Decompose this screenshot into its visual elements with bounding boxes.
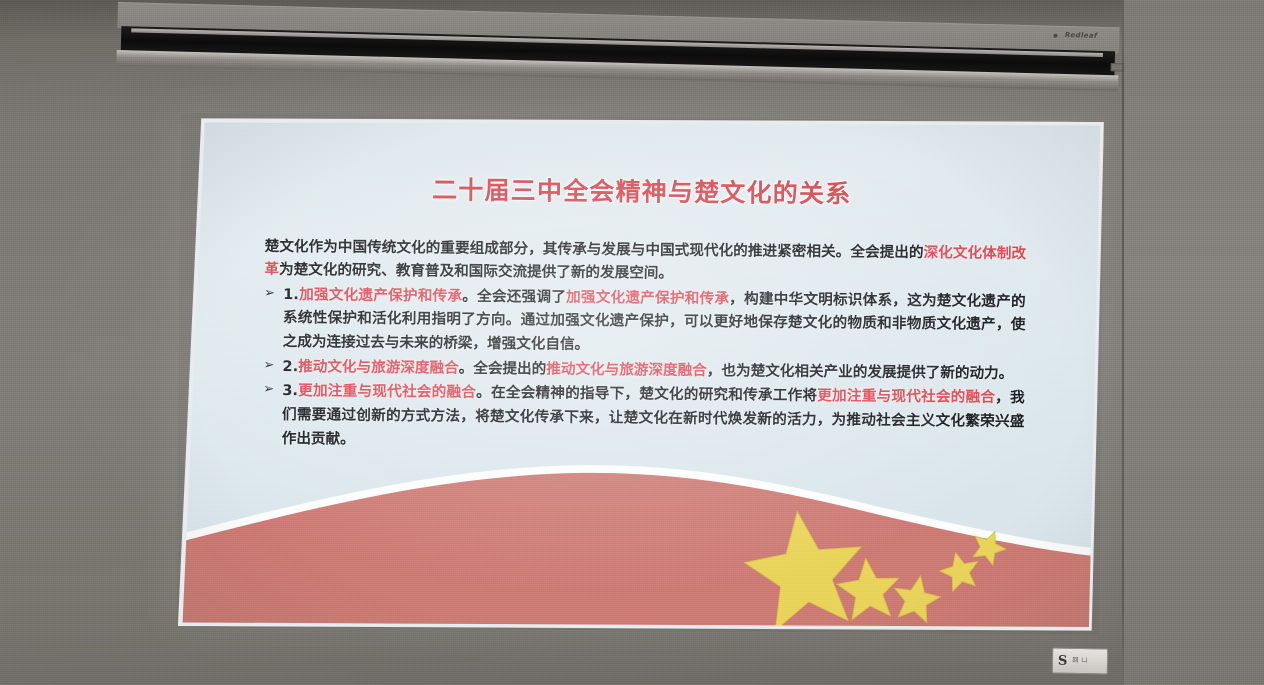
body-text-run: 楚文化作为中国传统文化的重要组成部分，其传承与发展与中国式现代化的推进紧密相关。…	[265, 237, 924, 260]
slide-title: 二十届三中全会精神与楚文化的关系	[180, 168, 1103, 213]
brand-dot-icon	[1053, 34, 1057, 38]
highlighted-phrase: 加强文化遗产保护和传承	[566, 289, 729, 308]
highlighted-phrase: 推动文化与旅游深度融合	[546, 360, 707, 379]
body-text-run: 。全会提出的	[459, 359, 547, 377]
plate-glyph-icon: S	[1058, 653, 1068, 668]
intro-paragraph: 楚文化作为中国传统文化的重要组成部分，其传承与发展与中国式现代化的推进紧密相关。…	[264, 234, 1026, 289]
highlighted-phrase: 更加注重与现代社会的融合	[817, 388, 995, 407]
bullet-heading: 加强文化遗产保护和传承	[299, 286, 463, 305]
casing-brand-label: Redleaf	[1065, 31, 1098, 40]
bullet-list: ➢1.加强文化遗产保护和传承。全会还强调了加强文化遗产保护和传承，构建中华文明标…	[263, 283, 1026, 458]
bullet-item: ➢3.更加注重与现代社会的融合。在全会精神的指导下，楚文化的研究和传承工作将更加…	[263, 379, 1025, 457]
bullet-number: 1.	[283, 286, 299, 303]
wall-mounted-plate[interactable]: S 回 凵	[1052, 648, 1108, 675]
bullet-arrow-icon: ➢	[263, 379, 274, 400]
slide-canvas: 二十届三中全会精神与楚文化的关系 楚文化作为中国传统文化的重要组成部分，其传承与…	[176, 113, 1104, 635]
slide-body: 楚文化作为中国传统文化的重要组成部分，其传承与发展与中国式现代化的推进紧密相关。…	[263, 234, 1027, 457]
classroom-wall: Redleaf 二十届三中全会精神与楚文化的关系	[0, 0, 1264, 685]
body-text-run: 。在全会精神的指导下，楚文化的研究和传承工作将	[476, 384, 817, 404]
body-text-run: ，也为楚文化相关产业的发展提供了新的动力。	[707, 362, 1014, 382]
projected-slide: 二十届三中全会精神与楚文化的关系 楚文化作为中国传统文化的重要组成部分，其传承与…	[176, 113, 1104, 635]
bullet-item: ➢1.加强文化遗产保护和传承。全会还强调了加强文化遗产保护和传承，构建中华文明标…	[264, 283, 1026, 361]
bullet-arrow-icon: ➢	[263, 355, 274, 376]
bullet-heading: 推动文化与旅游深度融合	[298, 358, 459, 377]
slide-text-content: 二十届三中全会精神与楚文化的关系 楚文化作为中国传统文化的重要组成部分，其传承与…	[176, 113, 1104, 635]
body-text-run: 为楚文化的研究、教育普及和国际交流提供了新的发展空间。	[279, 261, 673, 282]
plate-code-label: 回 凵	[1072, 658, 1088, 665]
bullet-heading: 更加注重与现代社会的融合	[298, 383, 476, 402]
wall-right-section	[1124, 0, 1264, 685]
bullet-number: 2.	[282, 358, 298, 375]
body-text-run: 。全会还强调了	[462, 288, 566, 306]
bullet-arrow-icon: ➢	[264, 283, 275, 304]
bullet-number: 3.	[282, 382, 298, 399]
